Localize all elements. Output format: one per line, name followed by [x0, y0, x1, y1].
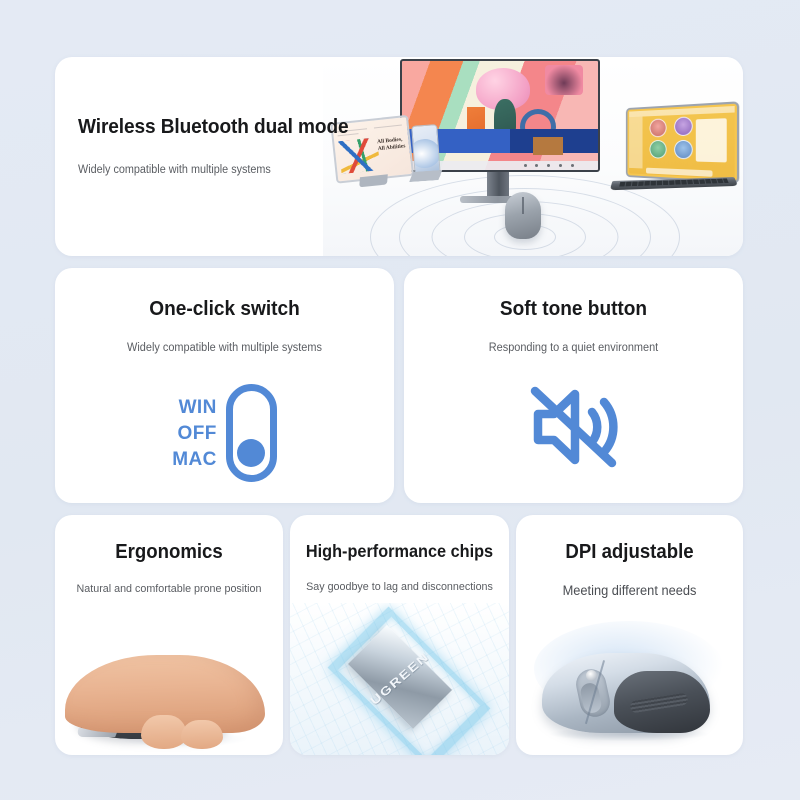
laptop-keyboard-base [610, 177, 738, 190]
laptop-screen-content [629, 106, 735, 179]
wireless-mouse-product [505, 192, 541, 239]
card-subtitle: Responding to a quiet environment [412, 342, 734, 354]
feature-card-soft-tone-button: Soft tone button Responding to a quiet e… [404, 268, 743, 503]
switch-label-mac: MAC [172, 450, 216, 469]
finger [181, 720, 223, 749]
avatar [649, 119, 666, 138]
phone-wallpaper [411, 138, 441, 169]
laptop-menubar [629, 106, 735, 117]
feature-card-high-performance-chips: High-performance chips Say goodbye to la… [290, 515, 509, 755]
card-title: Soft tone button [416, 297, 731, 321]
dpi-button [586, 670, 597, 681]
mouse-product [542, 653, 710, 733]
card-title: Wireless Bluetooth dual mode [78, 115, 349, 139]
card-subtitle: Say goodbye to lag and disconnections [295, 581, 503, 593]
infographic-page: All Bodies,All Abilities [0, 0, 800, 800]
avatar [649, 140, 666, 159]
laptop-keys [619, 179, 728, 187]
card-subtitle: Widely compatible with multiple systems [78, 164, 351, 176]
card-subtitle: Widely compatible with multiple systems [63, 342, 385, 354]
avatar [674, 116, 693, 136]
hero-device-scene: All Bodies,All Abilities [323, 57, 743, 256]
switch-label-win: WIN [172, 398, 216, 417]
mouse-side-grip [614, 671, 710, 733]
toggle-switch-track[interactable] [226, 384, 277, 482]
finger [141, 715, 187, 749]
card-title: Ergonomics [63, 541, 275, 564]
card-title: DPI adjustable [524, 541, 735, 564]
os-switch-graphic: WIN OFF MAC [55, 384, 394, 482]
switch-label-off: OFF [172, 424, 216, 443]
card-subtitle: Meeting different needs [522, 583, 738, 598]
feature-card-dpi-adjustable: DPI adjustable Meeting different needs [516, 515, 743, 755]
laptop-dock [646, 168, 713, 177]
monitor-stand-neck [487, 172, 509, 196]
tablet-headline: All Bodies,All Abilities [377, 137, 406, 152]
card-subtitle: Natural and comfortable prone position [61, 583, 278, 595]
dpi-mouse-illustration [516, 615, 743, 755]
os-switch-labels: WIN OFF MAC [172, 398, 216, 469]
speaker-mute-icon [526, 381, 622, 473]
laptop-device [613, 105, 735, 193]
card-title: One-click switch [67, 297, 382, 321]
laptop-sidebar [629, 117, 643, 169]
mute-icon-wrapper [404, 381, 743, 473]
hero-text-block: Wireless Bluetooth dual mode Widely comp… [78, 115, 369, 176]
toggle-switch-knob[interactable] [237, 439, 265, 467]
feature-card-wireless-dual-mode: All Bodies,All Abilities [55, 57, 743, 256]
card-title: High-performance chips [298, 541, 502, 562]
screen-artwork-shape [545, 65, 583, 95]
screen-artwork-shape [533, 137, 563, 155]
laptop-screen [626, 101, 739, 183]
phone-device [411, 124, 439, 178]
ergonomic-hand-on-mouse-photo [55, 627, 283, 755]
feature-card-one-click-switch: One-click switch Widely compatible with … [55, 268, 394, 503]
laptop-side-panel [696, 118, 727, 163]
chip-circuit-illustration: UGREEN [290, 603, 509, 755]
feature-card-ergonomics: Ergonomics Natural and comfortable prone… [55, 515, 283, 755]
avatar [674, 140, 693, 159]
